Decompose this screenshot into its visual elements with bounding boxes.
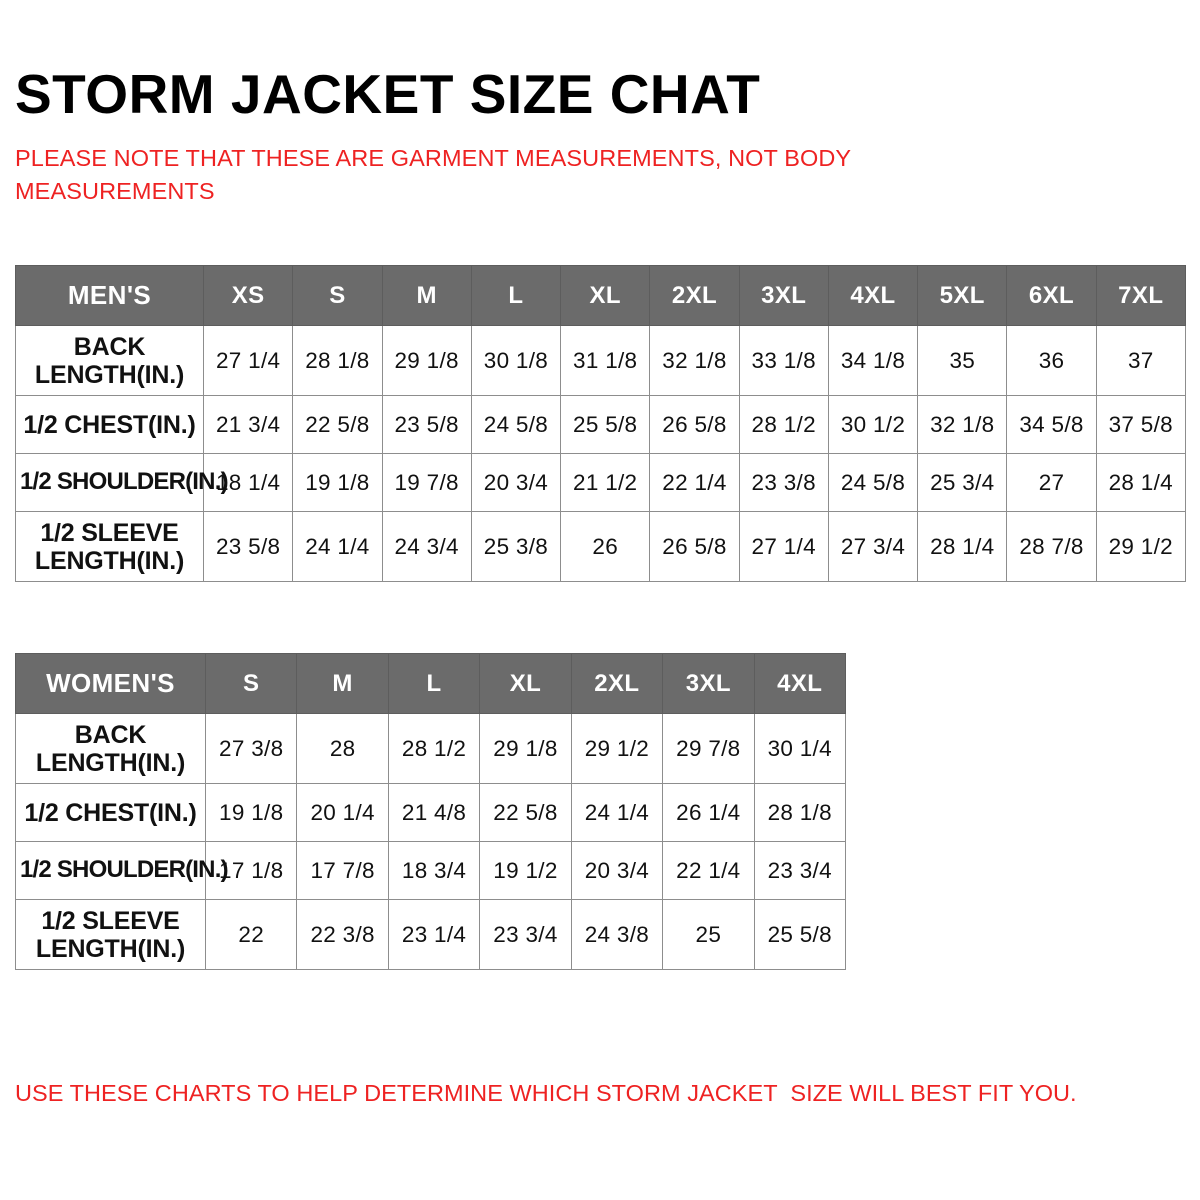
womens-half-sleeve-l: 23 1/4 [388, 900, 479, 970]
mens-back-length-xl: 31 1/8 [561, 326, 650, 396]
chart-usage-note: USE THESE CHARTS TO HELP DETERMINE WHICH… [15, 1080, 1185, 1107]
mens-half-sleeve-3xl: 27 1/4 [739, 512, 828, 582]
mens-size-header-6xl: 6XL [1007, 266, 1096, 326]
mens-half-shoulder-3xl: 23 3/8 [739, 454, 828, 512]
mens-half-sleeve-2xl: 26 5/8 [650, 512, 739, 582]
mens-half-chest-7xl: 37 5/8 [1096, 396, 1185, 454]
mens-half-chest-m: 23 5/8 [382, 396, 471, 454]
mens-half-shoulder-xl: 21 1/2 [561, 454, 650, 512]
womens-size-header-2xl: 2XL [571, 654, 662, 714]
mens-half-sleeve-7xl: 29 1/2 [1096, 512, 1185, 582]
row-label-line-2: LENGTH(IN.) [35, 547, 184, 575]
table-row: 1/2 SLEEVE LENGTH(IN.) 23 5/8 24 1/4 24 … [16, 512, 1186, 582]
mens-half-shoulder-l: 20 3/4 [471, 454, 560, 512]
womens-half-chest-3xl: 26 1/4 [663, 784, 754, 842]
womens-row-label-half-chest: 1/2 CHEST(IN.) [16, 784, 206, 842]
row-label-line-2: LENGTH(IN.) [35, 361, 184, 389]
mens-back-length-s: 28 1/8 [293, 326, 382, 396]
table-row: 1/2 CHEST(IN.) 21 3/4 22 5/8 23 5/8 24 5… [16, 396, 1186, 454]
mens-row-label-half-chest: 1/2 CHEST(IN.) [16, 396, 204, 454]
mens-half-chest-6xl: 34 5/8 [1007, 396, 1096, 454]
womens-back-length-4xl: 30 1/4 [754, 714, 845, 784]
mens-size-header-xs: XS [204, 266, 293, 326]
mens-half-chest-xs: 21 3/4 [204, 396, 293, 454]
mens-half-sleeve-4xl: 27 3/4 [828, 512, 917, 582]
womens-half-shoulder-s: 17 1/8 [206, 842, 297, 900]
mens-back-length-xs: 27 1/4 [204, 326, 293, 396]
mens-row-label-half-sleeve-length: 1/2 SLEEVE LENGTH(IN.) [16, 512, 204, 582]
table-row: 1/2 CHEST(IN.) 19 1/8 20 1/4 21 4/8 22 5… [16, 784, 846, 842]
womens-half-chest-s: 19 1/8 [206, 784, 297, 842]
row-label-line-2: LENGTH(IN.) [36, 749, 185, 777]
mens-back-length-5xl: 35 [918, 326, 1007, 396]
mens-half-shoulder-s: 19 1/8 [293, 454, 382, 512]
womens-half-sleeve-s: 22 [206, 900, 297, 970]
womens-half-sleeve-3xl: 25 [663, 900, 754, 970]
mens-back-length-4xl: 34 1/8 [828, 326, 917, 396]
mens-half-shoulder-6xl: 27 [1007, 454, 1096, 512]
womens-half-sleeve-m: 22 3/8 [297, 900, 388, 970]
mens-half-shoulder-m: 19 7/8 [382, 454, 471, 512]
mens-size-header-3xl: 3XL [739, 266, 828, 326]
womens-corner-header: WOMEN'S [16, 654, 206, 714]
mens-size-header-xl: XL [561, 266, 650, 326]
womens-half-chest-2xl: 24 1/4 [571, 784, 662, 842]
mens-half-chest-3xl: 28 1/2 [739, 396, 828, 454]
womens-back-length-s: 27 3/8 [206, 714, 297, 784]
womens-half-sleeve-2xl: 24 3/8 [571, 900, 662, 970]
table-row: 1/2 SHOULDER(IN.) 18 1/4 19 1/8 19 7/8 2… [16, 454, 1186, 512]
mens-half-shoulder-7xl: 28 1/4 [1096, 454, 1185, 512]
womens-half-shoulder-xl: 19 1/2 [480, 842, 571, 900]
row-label-line-1: 1/2 SLEEVE [40, 519, 178, 547]
womens-size-header-xl: XL [480, 654, 571, 714]
mens-half-chest-2xl: 26 5/8 [650, 396, 739, 454]
mens-size-header-5xl: 5XL [918, 266, 1007, 326]
womens-half-chest-m: 20 1/4 [297, 784, 388, 842]
mens-back-length-2xl: 32 1/8 [650, 326, 739, 396]
mens-half-shoulder-5xl: 25 3/4 [918, 454, 1007, 512]
womens-half-shoulder-l: 18 3/4 [388, 842, 479, 900]
row-label-line-1: BACK [74, 333, 145, 361]
mens-half-sleeve-xs: 23 5/8 [204, 512, 293, 582]
womens-header-row: WOMEN'S S M L XL 2XL 3XL 4XL [16, 654, 846, 714]
mens-table-head: MEN'S XS S M L XL 2XL 3XL 4XL 5XL 6XL 7X… [16, 266, 1186, 326]
mens-half-chest-l: 24 5/8 [471, 396, 560, 454]
mens-size-header-l: L [471, 266, 560, 326]
womens-back-length-2xl: 29 1/2 [571, 714, 662, 784]
table-row: BACK LENGTH(IN.) 27 1/4 28 1/8 29 1/8 30… [16, 326, 1186, 396]
row-label-line-1: 1/2 SLEEVE [41, 907, 179, 935]
womens-back-length-xl: 29 1/8 [480, 714, 571, 784]
womens-half-sleeve-xl: 23 3/4 [480, 900, 571, 970]
mens-row-label-back-length: BACK LENGTH(IN.) [16, 326, 204, 396]
mens-half-shoulder-2xl: 22 1/4 [650, 454, 739, 512]
mens-size-header-m: M [382, 266, 471, 326]
mens-half-sleeve-6xl: 28 7/8 [1007, 512, 1096, 582]
womens-row-label-half-sleeve-length: 1/2 SLEEVE LENGTH(IN.) [16, 900, 206, 970]
table-row: 1/2 SLEEVE LENGTH(IN.) 22 22 3/8 23 1/4 … [16, 900, 846, 970]
womens-half-chest-l: 21 4/8 [388, 784, 479, 842]
mens-half-chest-4xl: 30 1/2 [828, 396, 917, 454]
mens-back-length-6xl: 36 [1007, 326, 1096, 396]
womens-half-shoulder-2xl: 20 3/4 [571, 842, 662, 900]
table-row: BACK LENGTH(IN.) 27 3/8 28 28 1/2 29 1/8… [16, 714, 846, 784]
size-chart-page: STORM JACKET SIZE CHAT PLEASE NOTE THAT … [0, 0, 1200, 1200]
mens-back-length-7xl: 37 [1096, 326, 1185, 396]
womens-back-length-l: 28 1/2 [388, 714, 479, 784]
garment-measurement-note: PLEASE NOTE THAT THESE ARE GARMENT MEASU… [15, 142, 1015, 209]
mens-back-length-m: 29 1/8 [382, 326, 471, 396]
womens-size-header-4xl: 4XL [754, 654, 845, 714]
mens-half-sleeve-l: 25 3/8 [471, 512, 560, 582]
mens-table-body: BACK LENGTH(IN.) 27 1/4 28 1/8 29 1/8 30… [16, 326, 1186, 582]
mens-row-label-half-shoulder: 1/2 SHOULDER(IN.) [16, 454, 204, 512]
mens-half-sleeve-s: 24 1/4 [293, 512, 382, 582]
row-label-line-1: BACK [75, 721, 146, 749]
mens-half-shoulder-4xl: 24 5/8 [828, 454, 917, 512]
womens-size-table: WOMEN'S S M L XL 2XL 3XL 4XL BACK LENGTH… [15, 653, 846, 970]
womens-back-length-3xl: 29 7/8 [663, 714, 754, 784]
mens-corner-header: MEN'S [16, 266, 204, 326]
mens-back-length-3xl: 33 1/8 [739, 326, 828, 396]
mens-half-chest-s: 22 5/8 [293, 396, 382, 454]
mens-half-sleeve-xl: 26 [561, 512, 650, 582]
table-row: 1/2 SHOULDER(IN.) 17 1/8 17 7/8 18 3/4 1… [16, 842, 846, 900]
mens-half-shoulder-xs: 18 1/4 [204, 454, 293, 512]
womens-half-shoulder-4xl: 23 3/4 [754, 842, 845, 900]
row-label-line-2: LENGTH(IN.) [36, 935, 185, 963]
mens-half-sleeve-m: 24 3/4 [382, 512, 471, 582]
womens-table-body: BACK LENGTH(IN.) 27 3/8 28 28 1/2 29 1/8… [16, 714, 846, 970]
womens-row-label-half-shoulder: 1/2 SHOULDER(IN.) [16, 842, 206, 900]
womens-table-head: WOMEN'S S M L XL 2XL 3XL 4XL [16, 654, 846, 714]
mens-size-header-2xl: 2XL [650, 266, 739, 326]
womens-half-shoulder-3xl: 22 1/4 [663, 842, 754, 900]
womens-row-label-back-length: BACK LENGTH(IN.) [16, 714, 206, 784]
womens-half-sleeve-4xl: 25 5/8 [754, 900, 845, 970]
womens-size-header-m: M [297, 654, 388, 714]
womens-half-chest-4xl: 28 1/8 [754, 784, 845, 842]
page-title: STORM JACKET SIZE CHAT [15, 65, 760, 123]
mens-half-chest-xl: 25 5/8 [561, 396, 650, 454]
mens-size-table: MEN'S XS S M L XL 2XL 3XL 4XL 5XL 6XL 7X… [15, 265, 1186, 582]
womens-back-length-m: 28 [297, 714, 388, 784]
womens-size-header-3xl: 3XL [663, 654, 754, 714]
mens-size-header-4xl: 4XL [828, 266, 917, 326]
mens-size-header-7xl: 7XL [1096, 266, 1185, 326]
mens-half-sleeve-5xl: 28 1/4 [918, 512, 1007, 582]
womens-size-header-l: L [388, 654, 479, 714]
womens-half-chest-xl: 22 5/8 [480, 784, 571, 842]
mens-header-row: MEN'S XS S M L XL 2XL 3XL 4XL 5XL 6XL 7X… [16, 266, 1186, 326]
mens-back-length-l: 30 1/8 [471, 326, 560, 396]
womens-half-shoulder-m: 17 7/8 [297, 842, 388, 900]
womens-size-header-s: S [206, 654, 297, 714]
mens-half-chest-5xl: 32 1/8 [918, 396, 1007, 454]
mens-size-header-s: S [293, 266, 382, 326]
